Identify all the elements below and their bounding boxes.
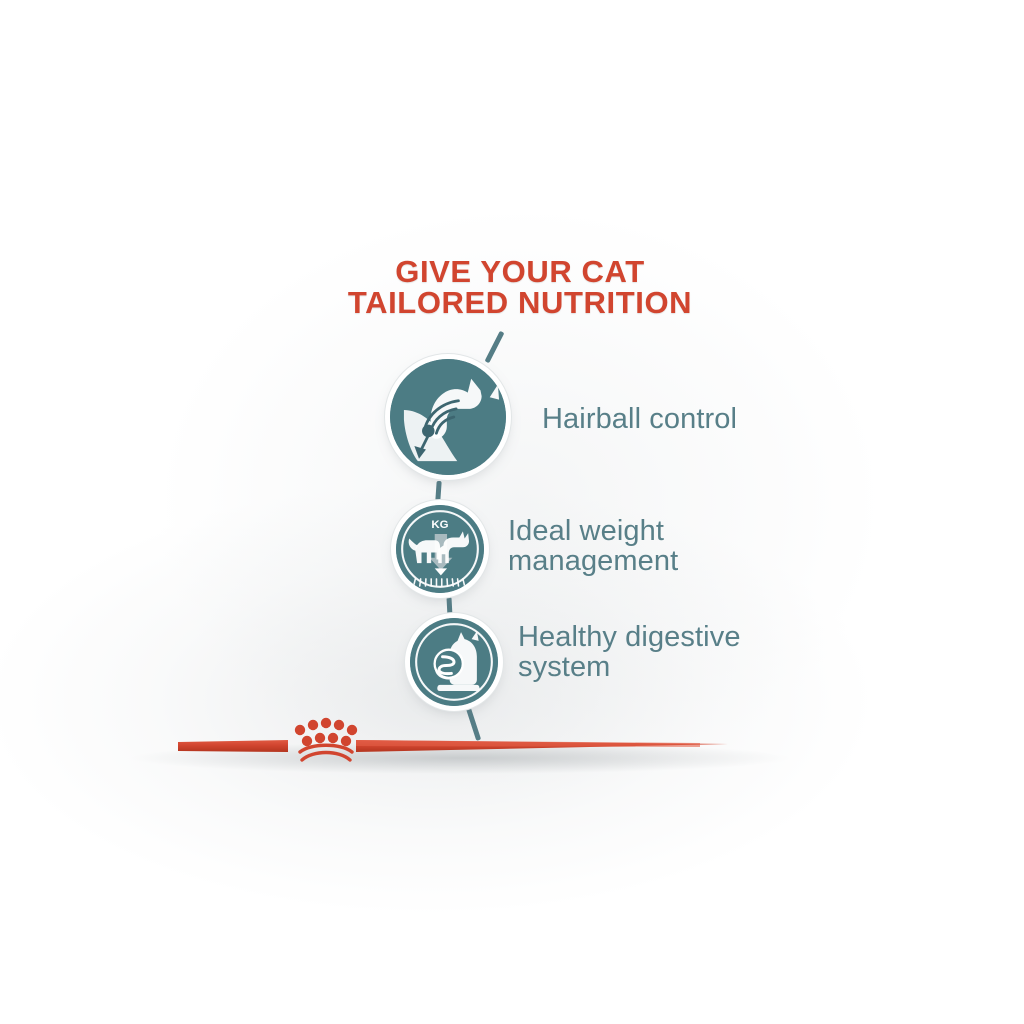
kg-unit-label: KG	[431, 519, 448, 531]
benefit-label-healthy-digestive-system: Healthy digestive system	[518, 622, 741, 682]
connector-dash-between-1-2	[435, 481, 441, 501]
cat-hairball-control-icon	[390, 359, 506, 475]
page-title: GIVE YOUR CAT TAILORED NUTRITION	[260, 256, 780, 318]
packshot-feature-panel: GIVE YOUR CAT TAILORED NUTRITION Ha	[0, 0, 1024, 1024]
benefit-label-ideal-weight-management: Ideal weight management	[508, 516, 678, 576]
cat-weight-scale-kg-icon: KG	[396, 505, 484, 593]
connector-dash-top	[485, 331, 505, 364]
benefit-label-hairball-control: Hairball control	[542, 404, 737, 434]
brand-footer-bar	[0, 690, 1024, 800]
connector-dash-between-2-3	[446, 597, 452, 617]
